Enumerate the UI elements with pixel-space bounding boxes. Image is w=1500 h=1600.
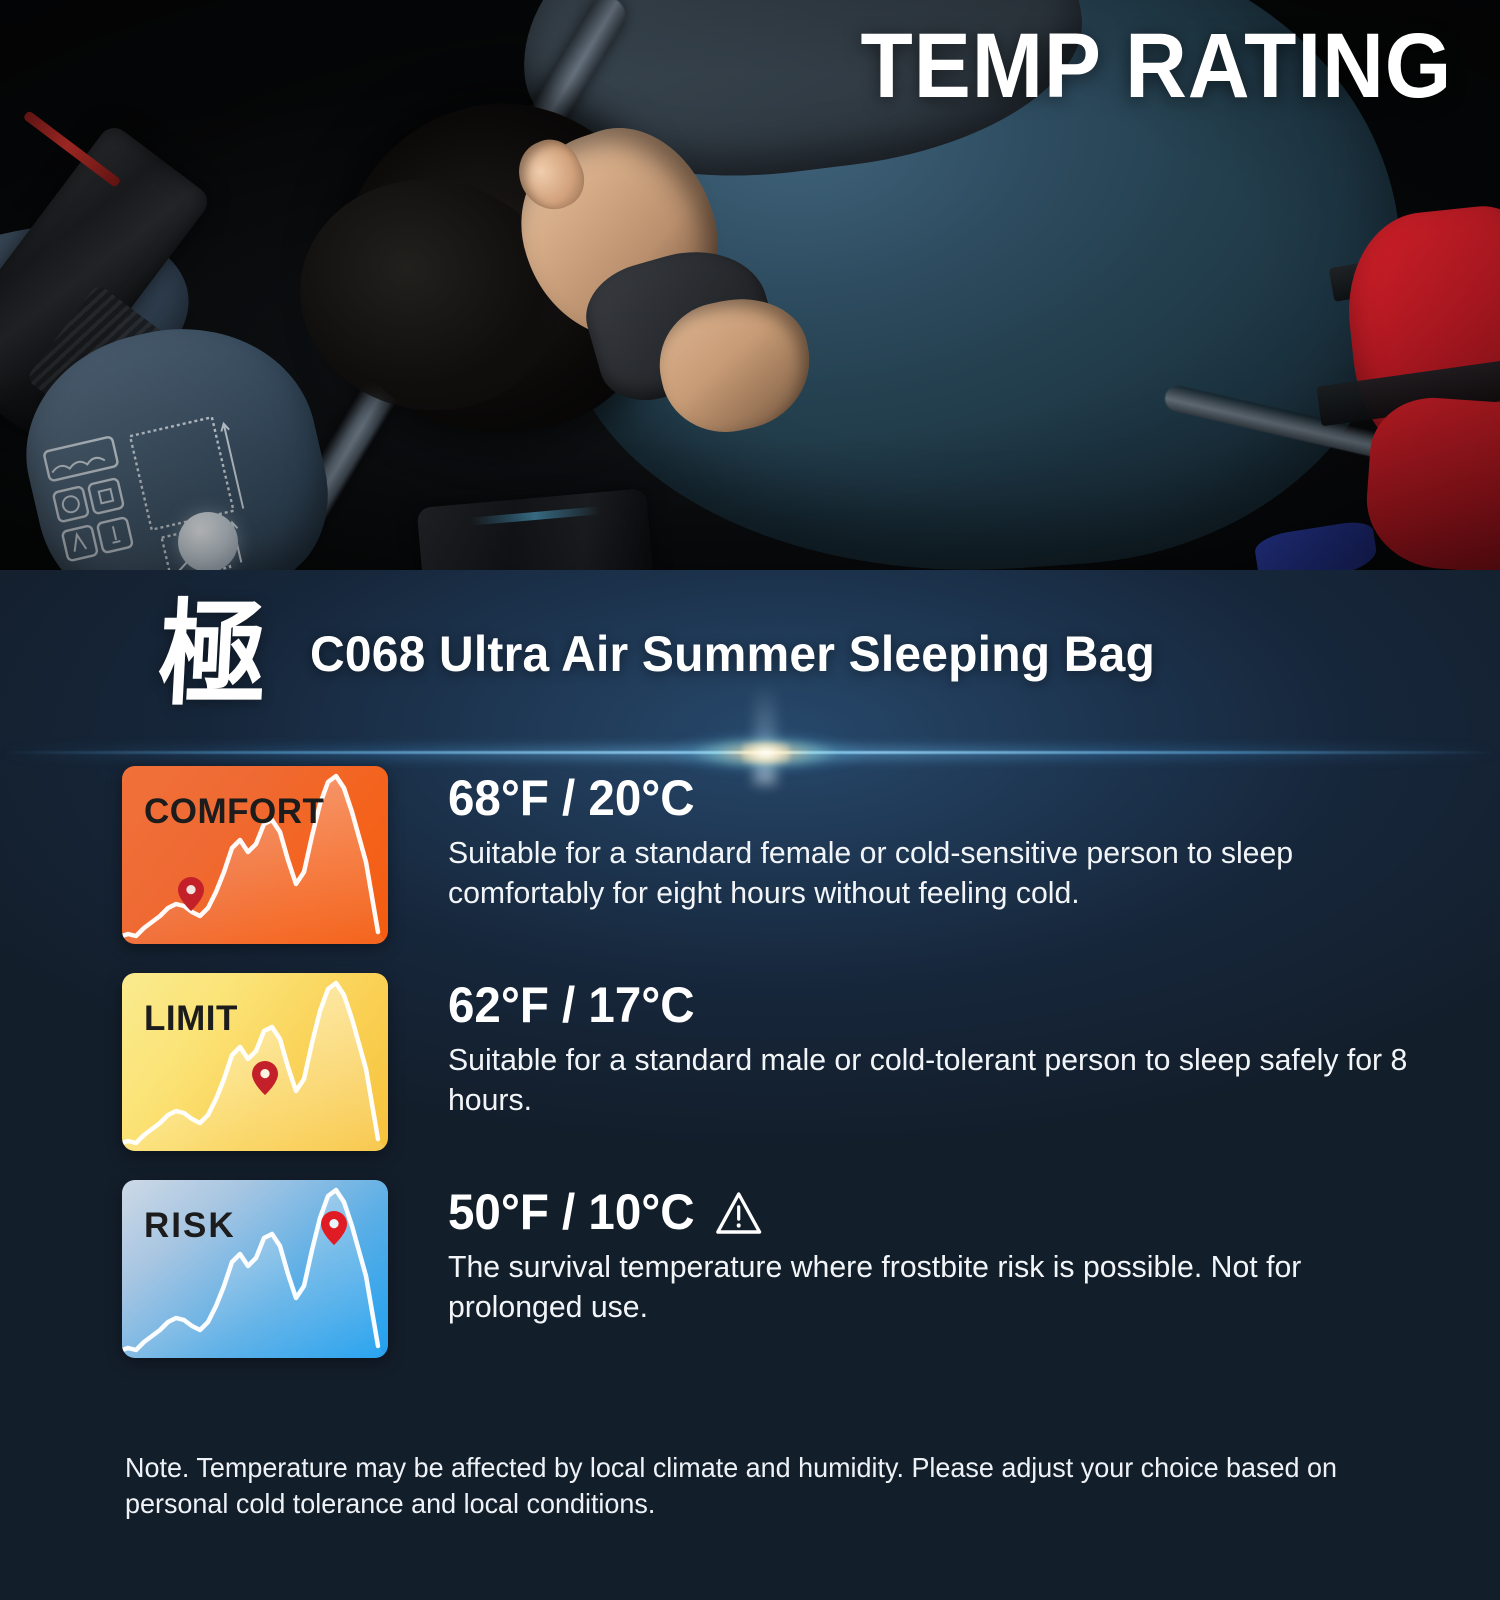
rating-row-comfort: COMFORT [0, 766, 1500, 944]
temperature-text: 68°F / 20°C [448, 772, 695, 825]
map-pin-icon [252, 1061, 278, 1095]
warning-triangle-icon [715, 1191, 761, 1235]
rating-detail-comfort: 68°F / 20°C Suitable for a standard fema… [388, 766, 1448, 912]
lens-flare-core [742, 742, 790, 764]
product-title: C068 Ultra Air Summer Sleeping Bag [310, 625, 1155, 683]
rating-chip-comfort: COMFORT [122, 766, 388, 944]
map-pin-icon [321, 1211, 347, 1245]
temperature-value-limit: 62°F / 17°C [448, 979, 1398, 1032]
rating-rows: COMFORT [0, 766, 1500, 1387]
rating-description-risk: The survival temperature where frostbite… [448, 1247, 1423, 1326]
rating-chip-limit: LIMIT [122, 973, 388, 1151]
hero-title: TEMP RATING [860, 18, 1452, 115]
rating-row-limit: LIMIT [0, 973, 1500, 1151]
rating-detail-limit: 62°F / 17°C Suitable for a standard male… [388, 973, 1448, 1119]
chip-label-comfort: COMFORT [144, 792, 324, 832]
temperature-value-comfort: 68°F / 20°C [448, 772, 1398, 825]
panel-header: 極 C068 Ultra Air Summer Sleeping Bag [0, 584, 1500, 724]
chip-label-limit: LIMIT [144, 999, 238, 1039]
footnote: Note. Temperature may be affected by loc… [125, 1450, 1389, 1522]
chip-label-risk: RISK [144, 1206, 236, 1246]
water-bottle-cap [178, 512, 238, 572]
infographic-page: TEMP RATING 極 C068 Ultra Air Summer Slee… [0, 0, 1500, 1600]
rating-detail-risk: 50°F / 10°C The survival temperature whe… [388, 1180, 1448, 1326]
temp-rating-panel: 極 C068 Ultra Air Summer Sleeping Bag COM… [0, 570, 1500, 1600]
temperature-text: 50°F / 10°C [448, 1186, 695, 1239]
temperature-text: 62°F / 17°C [448, 979, 695, 1032]
rating-description-limit: Suitable for a standard male or cold-tol… [448, 1040, 1423, 1119]
brand-kanji-logo: 極 [156, 597, 270, 711]
rating-description-comfort: Suitable for a standard female or cold-s… [448, 833, 1423, 912]
rating-chip-risk: RISK [122, 1180, 388, 1358]
map-pin-icon [178, 877, 204, 911]
temperature-value-risk: 50°F / 10°C [448, 1186, 1398, 1239]
hero-photo-section: TEMP RATING [0, 0, 1500, 572]
rating-row-risk: RISK [0, 1180, 1500, 1358]
